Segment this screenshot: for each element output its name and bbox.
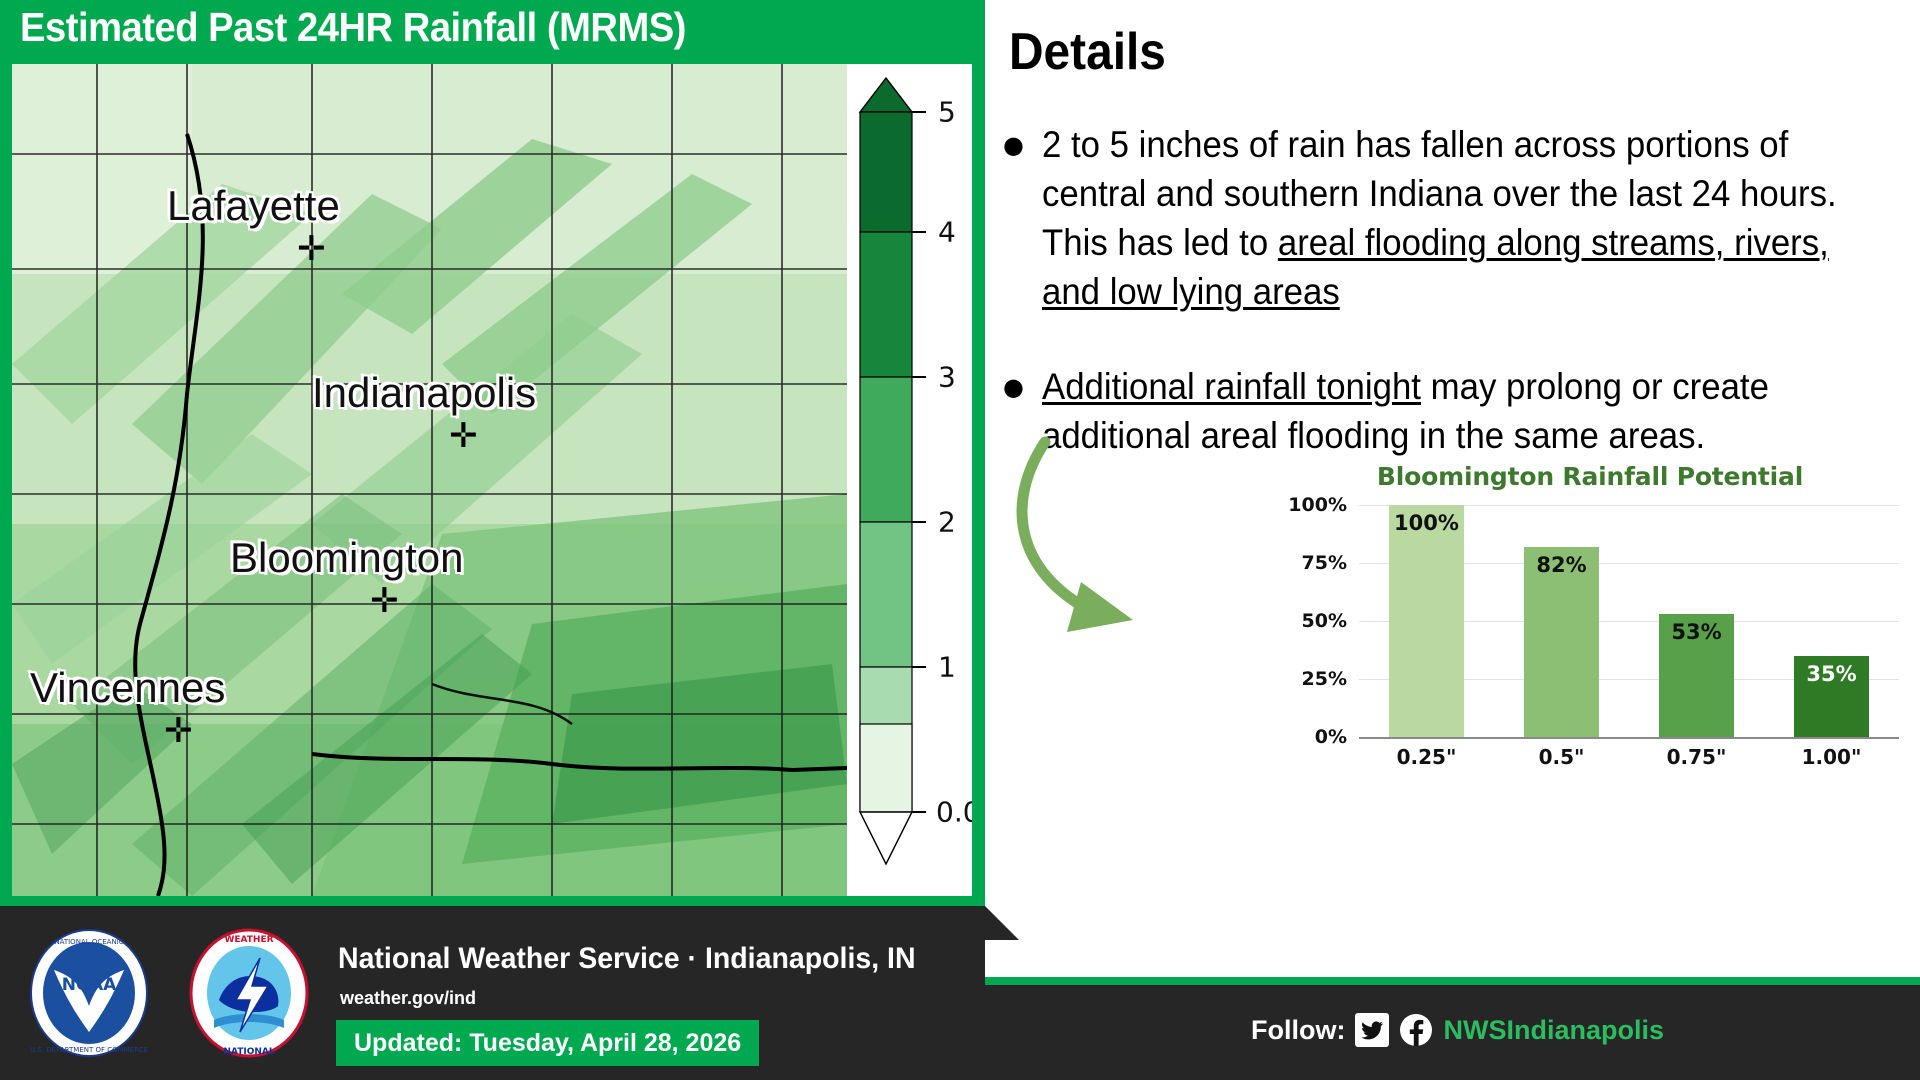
social-handle[interactable]: NWSIndianapolis <box>1443 1015 1664 1046</box>
follow-label: Follow: <box>1251 1015 1345 1046</box>
y-tick-0: 0% <box>1315 726 1347 748</box>
bullet-dot-icon: ● <box>1003 362 1024 460</box>
list-item: ● Additional rainfall tonight may prolon… <box>1003 362 1908 460</box>
rainfall-map-canvas[interactable]: Lafayette ✛ Indianapolis ✛ Bloomington ✛… <box>12 64 847 896</box>
nws-logo-icon: WEATHER NATIONAL <box>174 928 324 1058</box>
x-axis-labels: 0.25" 0.5" 0.75" 1.00" <box>1359 745 1899 769</box>
bar-0[interactable]: 100% <box>1389 505 1465 737</box>
bullet-text-1: 2 to 5 inches of rain has fallen across … <box>1042 120 1856 316</box>
axis-baseline <box>1359 737 1899 739</box>
logo-group: NOAA NATIONAL OCEANIC U.S. DEPARTMENT OF… <box>14 928 324 1058</box>
bullet-text-2: Additional rainfall tonight may prolong … <box>1042 362 1856 460</box>
bar-value-1: 82% <box>1524 553 1600 577</box>
footer-left: NOAA NATIONAL OCEANIC U.S. DEPARTMENT OF… <box>0 906 985 1080</box>
chart-plot: 100% 75% 50% 25% 0% 100% <box>1275 505 1905 760</box>
details-bullet-list: ● 2 to 5 inches of rain has fallen acros… <box>1003 120 1908 494</box>
details-panel: Details ● 2 to 5 inches of rain has fall… <box>985 0 1920 985</box>
chart-title: Bloomington Rainfall Potential <box>1275 462 1905 491</box>
infographic-root: Estimated Past 24HR Rainfall (MRMS) <box>0 0 1920 1080</box>
list-item: ● 2 to 5 inches of rain has fallen acros… <box>1003 120 1908 316</box>
bar-3[interactable]: 35% <box>1794 656 1870 737</box>
bar-value-0: 100% <box>1389 511 1465 535</box>
y-tick-25: 25% <box>1302 668 1347 690</box>
bar-2[interactable]: 53% <box>1659 614 1735 737</box>
noaa-logo-icon: NOAA NATIONAL OCEANIC U.S. DEPARTMENT OF… <box>14 928 164 1058</box>
y-tick-50: 50% <box>1302 610 1347 632</box>
city-marker-bloomington: ✛ <box>370 584 399 618</box>
x-tick-3: 1.00" <box>1764 745 1899 769</box>
y-tick-100: 100% <box>1288 494 1347 516</box>
x-tick-1: 0.5" <box>1494 745 1629 769</box>
map-panel: Estimated Past 24HR Rainfall (MRMS) <box>0 0 985 906</box>
city-marker-lafayette: ✛ <box>297 232 326 266</box>
city-marker-indianapolis: ✛ <box>449 419 478 453</box>
chart-bars: 100% 82% 53% <box>1359 505 1899 737</box>
colorbar-tick-5: 5 <box>938 96 956 129</box>
svg-text:WEATHER: WEATHER <box>224 935 273 945</box>
svg-text:NATIONAL OCEANIC: NATIONAL OCEANIC <box>54 938 123 946</box>
svg-text:NOAA: NOAA <box>62 975 117 995</box>
bar-cell: 82% <box>1494 505 1629 737</box>
bar-cell: 53% <box>1629 505 1764 737</box>
colorbar-tick-1: 1 <box>938 651 956 684</box>
bar-cell: 100% <box>1359 505 1494 737</box>
follow-row: Follow: NWSIndianapolis <box>1251 1013 1664 1047</box>
bar-cell: 35% <box>1764 505 1899 737</box>
colorbar-tick-4: 4 <box>938 216 956 249</box>
details-heading: Details <box>1009 22 1166 82</box>
svg-text:NATIONAL: NATIONAL <box>223 1047 274 1057</box>
bar-1[interactable]: 82% <box>1524 547 1600 737</box>
bullet-dot-icon: ● <box>1003 120 1024 316</box>
rainfall-colorbar: 5 4 3 2 1 0.01 <box>850 64 972 896</box>
footer-right: Follow: NWSIndianapolis <box>985 985 1920 1080</box>
footer-green-divider <box>985 977 1920 985</box>
x-tick-0: 0.25" <box>1359 745 1494 769</box>
agency-url[interactable]: weather.gov/ind <box>340 988 476 1009</box>
twitter-icon[interactable] <box>1355 1013 1389 1047</box>
colorbar-tick-2: 2 <box>938 506 956 539</box>
bullet-2-segment-underlined: Additional rainfall tonight <box>1042 366 1421 407</box>
bar-value-3: 35% <box>1794 662 1870 686</box>
map-body: Lafayette ✛ Indianapolis ✛ Bloomington ✛… <box>12 64 972 896</box>
bloomington-rainfall-chart: Bloomington Rainfall Potential 100% 75% … <box>1275 462 1905 787</box>
colorbar-tick-min: 0.01 <box>936 796 972 829</box>
city-marker-vincennes: ✛ <box>164 714 193 748</box>
agency-name: National Weather Service · Indianapolis,… <box>338 942 916 976</box>
colorbar-tick-3: 3 <box>938 361 956 394</box>
chart-plot-area: 100% 82% 53% <box>1359 505 1899 737</box>
svg-text:U.S. DEPARTMENT OF COMMERCE: U.S. DEPARTMENT OF COMMERCE <box>30 1046 148 1054</box>
bar-value-2: 53% <box>1659 620 1735 644</box>
y-tick-75: 75% <box>1302 552 1347 574</box>
status-badge-updated: Updated: Tuesday, April 28, 2026 <box>336 1020 759 1066</box>
y-axis-labels: 100% 75% 50% 25% 0% <box>1275 505 1353 737</box>
map-title: Estimated Past 24HR Rainfall (MRMS) <box>20 4 686 51</box>
rainfall-raster <box>12 64 847 896</box>
x-tick-2: 0.75" <box>1629 745 1764 769</box>
facebook-icon[interactable] <box>1399 1013 1433 1047</box>
